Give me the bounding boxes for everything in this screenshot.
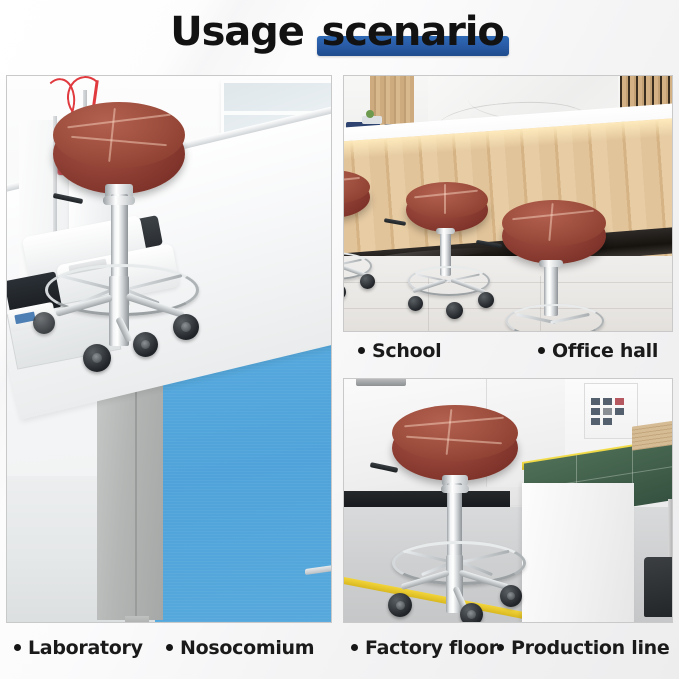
caption-school: School [358, 340, 441, 362]
cabinet-handle [378, 378, 406, 386]
seat-stitch [548, 203, 553, 241]
seat-stitch [512, 210, 594, 220]
caption-label: Production line [511, 637, 669, 659]
caster [478, 292, 494, 308]
bullet-icon [538, 347, 545, 354]
caster [83, 344, 111, 372]
seat-stitch [406, 436, 502, 444]
panel-factory[interactable] [343, 378, 673, 623]
caster [388, 593, 412, 617]
board-cell [615, 408, 624, 415]
gas-lift-collar [103, 196, 135, 205]
seat-stitch [67, 114, 170, 128]
school-office-photo [344, 76, 672, 331]
tile-line [344, 308, 673, 309]
caption-label: School [372, 340, 441, 362]
cabinet-handle [305, 559, 332, 575]
title-bar: Usage scenario [0, 0, 679, 72]
caster [500, 585, 522, 607]
infographic-page: Usage scenario [0, 0, 679, 679]
stool-seat-top [392, 405, 518, 461]
board-cell [603, 398, 612, 405]
caption-factory-floor: Factory floor [351, 637, 498, 659]
caption-label: Factory floor [365, 637, 498, 659]
seat-stitch [404, 417, 504, 427]
panel-school-office[interactable] [343, 75, 673, 332]
bullet-icon [358, 347, 365, 354]
laboratory-photo [7, 76, 331, 622]
white-workstation [522, 483, 634, 623]
gas-lift-collar [539, 260, 563, 267]
seat-stitch [444, 184, 446, 214]
seat-stitch [71, 136, 167, 146]
caster [133, 332, 158, 357]
bullet-icon [351, 644, 358, 651]
footring [506, 304, 604, 332]
caption-production-line: Production line [497, 637, 669, 659]
caster-hub [467, 610, 476, 619]
stool-seat-top [53, 102, 185, 168]
wall-board [584, 383, 638, 439]
bullet-icon [497, 644, 504, 651]
caster-hub [181, 322, 191, 332]
gas-lift-collar [441, 485, 469, 493]
lab-cabinet-foot [125, 616, 149, 623]
title-word-plain: Usage [170, 6, 304, 58]
caster [408, 296, 423, 311]
caster-hub [507, 592, 515, 600]
bullet-icon [166, 644, 173, 651]
floor-bin [644, 557, 673, 617]
board-cell [603, 408, 612, 415]
caption-office-hall: Office hall [538, 340, 658, 362]
cabinet-handle [356, 378, 382, 386]
seat-stitch [446, 409, 453, 455]
board-cell [603, 418, 612, 425]
caster [446, 302, 463, 319]
caster [360, 274, 375, 289]
stool-seat-top [502, 200, 606, 246]
caster [33, 312, 55, 334]
plant [366, 110, 374, 118]
board-cell [591, 418, 600, 425]
caster [173, 314, 199, 340]
caption-nosocomium: Nosocomium [166, 637, 314, 659]
seat-stitch [343, 177, 360, 185]
caption-label: Laboratory [28, 637, 143, 659]
seat-stitch [108, 108, 116, 162]
stool-seat-top [406, 182, 488, 218]
caster-hub [396, 601, 405, 610]
title-highlight-text: scenario [322, 9, 504, 55]
caption-laboratory: Laboratory [14, 637, 143, 659]
board-cell [591, 408, 600, 415]
seat-stitch [414, 190, 478, 198]
factory-photo [344, 379, 672, 622]
gas-lift-collar [436, 228, 455, 234]
tile-line [344, 282, 673, 283]
caption-label: Office hall [552, 340, 658, 362]
bullet-icon [14, 644, 21, 651]
caption-label: Nosocomium [180, 637, 314, 659]
caster-hub [92, 353, 102, 363]
caster-hub [141, 340, 150, 349]
caster [460, 603, 483, 623]
board-cell [615, 398, 624, 405]
board-cell [591, 398, 600, 405]
page-title: Usage scenario [0, 6, 679, 58]
title-word-highlighted: scenario [317, 6, 509, 58]
panel-laboratory[interactable] [6, 75, 332, 623]
